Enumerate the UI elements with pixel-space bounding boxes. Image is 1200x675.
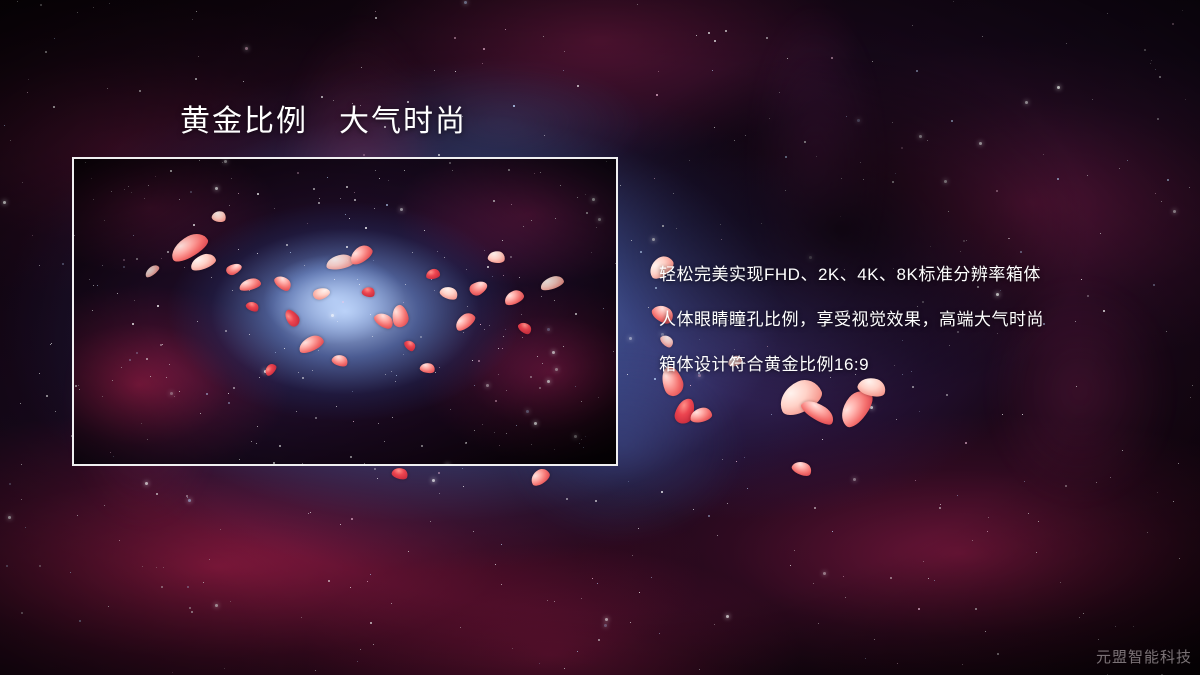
- framed-photo-vignette: [74, 159, 616, 464]
- copy-line-3: 箱体设计符合黄金比例16:9: [659, 342, 1179, 387]
- watermark: 元盟智能科技: [1096, 646, 1192, 667]
- copy-line-2: 人体眼睛瞳孔比例，享受视觉效果，高端大气时尚: [659, 297, 1179, 342]
- rose-petal: [799, 395, 838, 428]
- rose-petal: [834, 385, 878, 431]
- rose-petal: [528, 466, 552, 488]
- presentation-slide: 黄金比例 大气时尚 轻松完美实现FHD、2K、4K、8K标准分辨率箱体 人体眼睛…: [0, 0, 1200, 675]
- picture-frame: [72, 157, 618, 466]
- rose-petal: [391, 466, 410, 482]
- rose-petal: [689, 406, 713, 424]
- page-title: 黄金比例 大气时尚: [180, 102, 467, 141]
- rose-petal: [673, 396, 697, 426]
- copy-line-1: 轻松完美实现FHD、2K、4K、8K标准分辨率箱体: [659, 252, 1179, 297]
- framed-photo: [74, 159, 616, 464]
- body-copy: 轻松完美实现FHD、2K、4K、8K标准分辨率箱体 人体眼睛瞳孔比例，享受视觉效…: [659, 252, 1179, 387]
- rose-petal: [790, 458, 814, 478]
